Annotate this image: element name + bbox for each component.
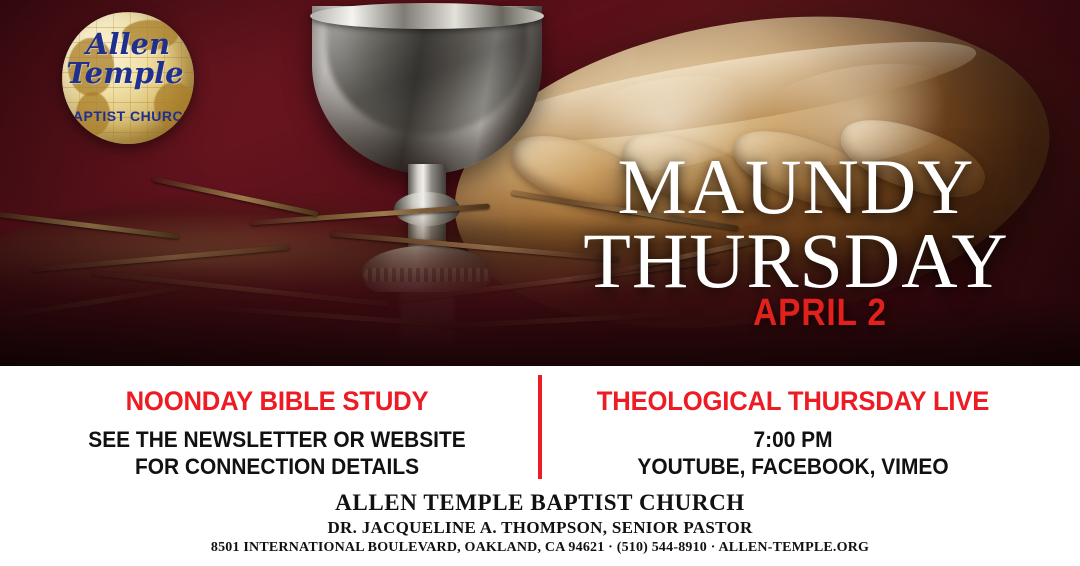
event-column-right: THEOLOGICAL THURSDAY LIVE 7:00 PM YOUTUB… xyxy=(558,386,1028,481)
footer-address: 8501 INTERNATIONAL BOULEVARD, OAKLAND, C… xyxy=(0,540,1080,556)
logo-script-text: Allen Temple xyxy=(62,30,194,88)
hero-photo: MAUNDY THURSDAY APRIL 2 Allen Temple BAP… xyxy=(0,0,1080,366)
event-title-noonday-bible-study: NOONDAY BIBLE STUDY xyxy=(54,386,501,417)
event-detail-line: 7:00 PM xyxy=(570,427,1017,454)
footer-church-name: ALLEN TEMPLE BAPTIST CHURCH xyxy=(0,490,1080,516)
event-details-left: SEE THE NEWSLETTER OR WEBSITE FOR CONNEC… xyxy=(42,427,512,481)
column-divider xyxy=(538,375,542,479)
event-title-theological-thursday-live: THEOLOGICAL THURSDAY LIVE xyxy=(570,386,1017,417)
logo-subtitle: BAPTIST CHURCH xyxy=(62,108,194,124)
footer: ALLEN TEMPLE BAPTIST CHURCH DR. JACQUELI… xyxy=(0,490,1080,556)
headline-line-2: THURSDAY xyxy=(536,224,1056,298)
event-detail-line: SEE THE NEWSLETTER OR WEBSITE xyxy=(54,427,501,454)
hero-headline: MAUNDY THURSDAY xyxy=(536,150,1056,298)
maundy-thursday-flyer: MAUNDY THURSDAY APRIL 2 Allen Temple BAP… xyxy=(0,0,1080,566)
info-band: NOONDAY BIBLE STUDY SEE THE NEWSLETTER O… xyxy=(0,366,1080,566)
event-details-right: 7:00 PM YOUTUBE, FACEBOOK, VIMEO xyxy=(558,427,1028,481)
chalice-rim xyxy=(310,3,544,29)
footer-pastor: DR. JACQUELINE A. THOMPSON, SENIOR PASTO… xyxy=(0,518,1080,538)
event-column-left: NOONDAY BIBLE STUDY SEE THE NEWSLETTER O… xyxy=(42,386,512,481)
logo-script-line-2: Temple xyxy=(62,59,194,88)
church-logo: Allen Temple BAPTIST CHURCH xyxy=(62,12,194,144)
event-detail-line: FOR CONNECTION DETAILS xyxy=(54,454,501,481)
hero-date: APRIL 2 xyxy=(679,292,961,335)
event-detail-line: YOUTUBE, FACEBOOK, VIMEO xyxy=(570,454,1017,481)
